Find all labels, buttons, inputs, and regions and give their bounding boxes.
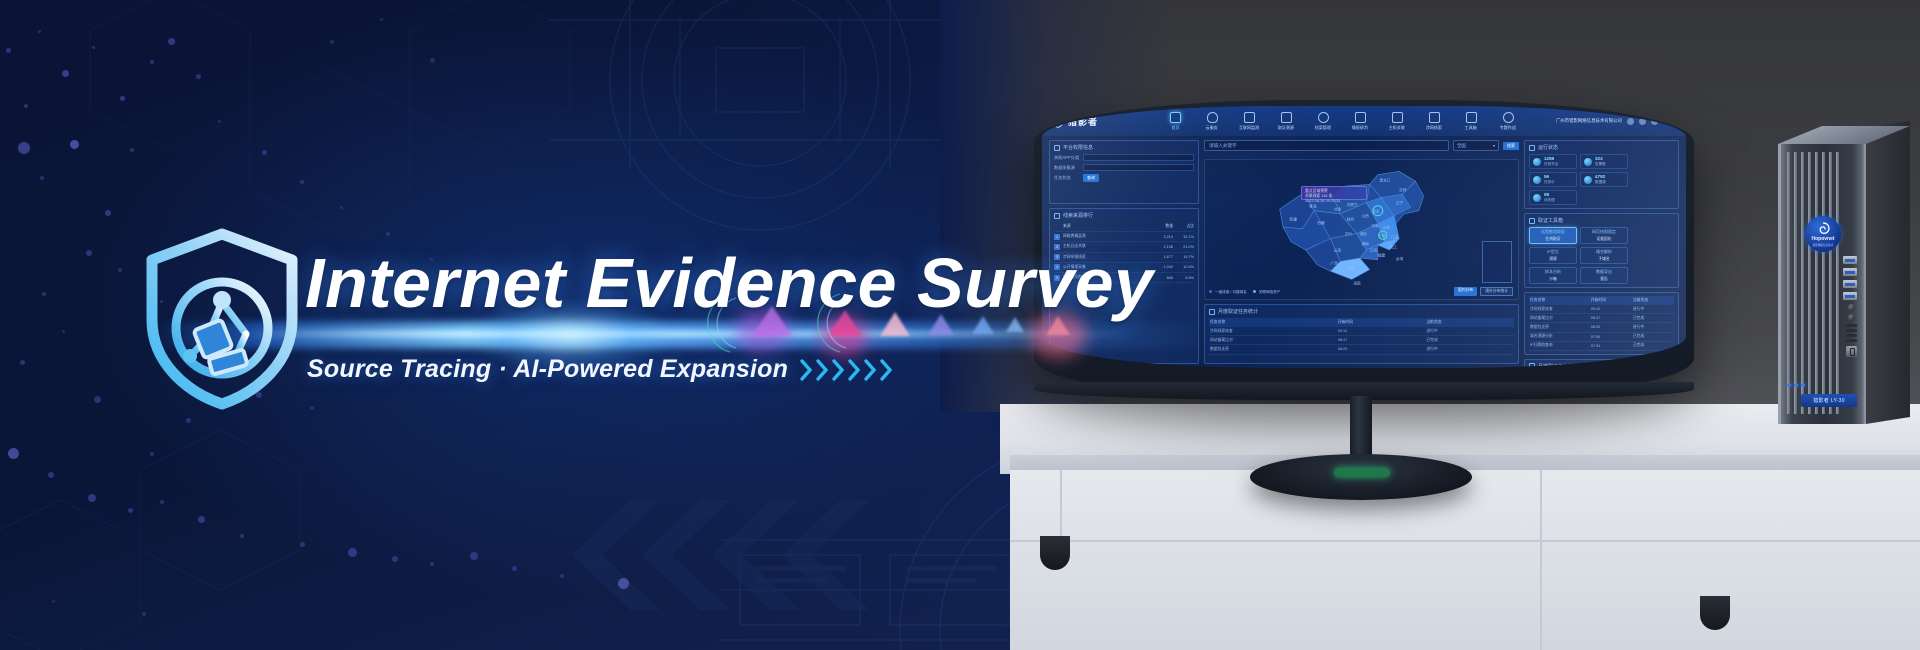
tower-brand-badge: Hopovnet 猎影网络信息技术 [1805,216,1841,252]
badge-brand-name: Hopovnet [1811,236,1834,242]
cell-time: 08:20 [1590,323,1632,332]
tools-grid: 远程勘验取证 在线取证 网页快照固定 证据固化 IP定位 [1529,227,1674,284]
svg-text:辽宁: 辽宁 [1396,200,1404,205]
legend-label-1: 关联网络资产 [1259,290,1281,294]
cell-name: 域名溯源分析 [1529,332,1590,341]
tool-sub: 子域名 [1598,257,1609,262]
vent-fin [1794,152,1797,414]
map-buttons: 国内分布 境外分布统计 [1454,287,1513,296]
list-item-count: 2,108 [1153,245,1173,249]
bar-chart-title: 月度取证任务统计 [1529,363,1674,368]
tools-panel-title: 取证工具箱 [1529,217,1674,224]
kpi-value: 1286 [1544,156,1558,161]
chevron-right-icon [864,359,877,381]
vent-fin [1822,152,1825,414]
table-header-row: 任务名称 开始时间 当前状态 [1209,318,1514,327]
cell-name: IP归属地查询 [1529,341,1590,350]
alert-icon [1584,158,1592,166]
svg-text:陕西: 陕西 [1347,217,1355,222]
permission-panel-title: 平台权限信息 [1054,144,1194,151]
nav-label-7: 涉网线索 [1426,125,1442,131]
tool-title: IP定位 [1547,249,1559,255]
detail-table: 任务名称 开始时间 当前状态 涉网线索核查 09:12 进行中 [1529,296,1674,351]
analysis-icon [1355,112,1366,123]
table-row[interactable]: 涉网线索核查 09:12 进行中 [1209,327,1514,336]
kpi-label: 在线节点 [1544,162,1558,167]
cell-status: 已完成 [1632,341,1674,350]
table-header-row: 任务名称 开始时间 当前状态 [1529,296,1674,305]
drawer-handle-left[interactable] [1040,536,1070,570]
shield-network-logo [140,228,305,410]
task-icon [1533,176,1541,184]
nav-label-4: 档案管理 [1315,125,1331,131]
subtitle-row: Source Tracing · AI-Powered Expansion [307,355,893,384]
status-panel: 运行状态 1286 在线节点 [1524,140,1679,209]
task-table-panel: 月度取证任务统计 任务名称 开始时间 当前状态 涉网线索核查 [1204,304,1519,364]
page-title: Internet Evidence Survey [305,243,1153,323]
header-right: 广州市猎影网络信息技术有限公司 管理员 [1556,118,1676,125]
search-node-icon [1533,158,1541,166]
filter-label-2: 任务状态 [1054,175,1080,181]
stand-energy-badge [1334,468,1390,477]
tool-sub: 溯源 [1549,257,1557,262]
th-1: 开始时间 [1590,296,1632,305]
map-legend: 一级线索 / 可疑域名 关联网络资产 [1209,290,1280,295]
list-item-count: 1,042 [1153,265,1173,269]
tool-card[interactable]: 样本分析 沙箱 [1529,267,1577,284]
power-button[interactable] [1846,346,1857,357]
cell-time: 09:12 [1337,327,1426,336]
cell-time: 07:55 [1590,332,1632,341]
cell-time: 08:20 [1337,345,1426,354]
chevron-right-icon [848,359,861,381]
avatar[interactable] [1627,118,1634,125]
filter-row-2: 任务状态 查询 [1054,174,1194,182]
nav-label-8: 工具箱 [1465,125,1477,131]
query-button[interactable]: 查询 [1083,174,1099,182]
nav-item-1[interactable]: 云服务 [1199,112,1225,131]
bell-icon[interactable] [1639,118,1646,125]
cloud-icon [1207,112,1218,123]
nav-item-0[interactable]: 首页 [1162,112,1188,131]
decorative-chevrons [560,500,900,610]
tower-front-panel: Hopovnet 猎影网络信息技术 猎影者 [1778,144,1866,424]
cell-name: 数据包还原 [1209,345,1337,354]
chevron-right-icon [880,359,893,381]
nav-label-0: 首页 [1171,125,1179,131]
monitor-stand-base [1250,454,1472,500]
cell-status: 已完成 [1632,314,1674,323]
tool-title: 网页快照固定 [1592,229,1616,235]
middle-column: 请输入关键字 全国 ▾ 搜索 [1204,140,1519,364]
mini-map[interactable] [1482,241,1512,283]
legend-entry-0: 一级线索 / 可疑域名 [1209,290,1247,295]
cell-time: 08:47 [1337,336,1426,345]
audio-jack[interactable] [1848,304,1855,311]
task-table-title: 月度取证任务统计 [1209,308,1514,315]
tool-card[interactable]: 远程勘验取证 在线取证 [1529,227,1577,244]
status-panel-title: 运行状态 [1529,144,1674,151]
right-column: 运行状态 1286 在线节点 [1524,140,1679,364]
svg-text:福建: 福建 [1378,252,1386,257]
region-select-value: 全国 [1457,143,1466,149]
cell-name: 网站备案比对 [1209,336,1337,345]
database-icon [1584,176,1592,184]
tool-card[interactable]: 网页快照固定 证据固化 [1580,227,1628,244]
ranking-panel-title: 线索来源排行 [1054,212,1194,219]
pc-tower: Hopovnet 猎影网络信息技术 猎影者 [1778,126,1910,426]
dashboard-header: 猎影者 首页 云服务 [1042,106,1686,136]
table-row[interactable]: 数据包还原 08:20 进行中 [1529,323,1674,332]
nav-item-2[interactable]: 互联网监测 [1236,112,1262,131]
svg-text:黑龙江: 黑龙江 [1379,177,1390,182]
cell-name: 数据包还原 [1529,323,1590,332]
tool-card[interactable]: IP定位 溯源 [1529,247,1577,264]
nav-item-8[interactable]: 工具箱 [1458,112,1484,131]
cell-name: 涉网线索核查 [1209,327,1337,336]
svg-text:湖北: 湖北 [1360,231,1368,236]
ranking-header: 来源 数量 占比 [1054,222,1194,232]
vent-slot [1846,329,1857,332]
map-button-domestic[interactable]: 国内分布 [1454,287,1477,296]
svg-text:广西: 广西 [1330,261,1338,266]
search-icon [1503,112,1514,123]
svg-text:湖南: 湖南 [1362,241,1370,246]
callout-time: 2023-08-28 09:25:33 [1305,199,1363,203]
kpi-card[interactable]: 1286 在线节点 [1529,154,1577,169]
cell-time: 08:47 [1590,314,1632,323]
usb-port[interactable] [1843,280,1857,288]
tower-nameplate: 猎影者 LY-30 [1801,394,1857,407]
legend-label-0: 一级线索 / 可疑域名 [1215,290,1247,294]
pending-icon [1533,194,1541,202]
nav-label-5: 情报研判 [1352,125,1368,131]
brand-name: 猎影者 [1068,115,1098,128]
filter-row-0: 关联APP分类 [1054,154,1194,161]
kpi-label: 待处理 [1544,198,1555,203]
page-subtitle: Source Tracing · AI-Powered Expansion [307,355,788,384]
nav-label-6: 主机关联 [1389,125,1405,131]
map-button-overseas[interactable]: 境外分布统计 [1480,287,1513,296]
cell-status: 进行中 [1632,323,1674,332]
vent-fin [1801,152,1804,414]
toolbox-icon [1466,112,1477,123]
kpi-label: 任务中 [1544,180,1555,185]
desk-seam-vertical-1 [1540,470,1542,650]
clue-icon [1429,112,1440,123]
th-0: 任务名称 [1529,296,1590,305]
kpi-value: 4792 [1595,174,1606,179]
nav-label-9: 专题作战 [1500,125,1516,131]
filter-label-1: 数据采集源 [1054,165,1080,171]
region-select[interactable]: 全国 ▾ [1453,140,1499,151]
tower-side-panel [1866,121,1910,424]
bar-chart-panel: 月度取证任务统计 30,00025,000 2 [1524,359,1679,368]
table-row[interactable]: 网站备案比对 08:47 已完成 [1209,336,1514,345]
list-item-pct: 21.0% [1176,245,1194,249]
hero-banner: 猎影者 首页 云服务 [0,0,1920,650]
th-0: 任务名称 [1209,318,1337,327]
vent-slot [1846,334,1857,337]
desk-seam-vertical-2 [1060,470,1062,540]
spiral-logo-icon [1817,222,1830,235]
gear-icon[interactable] [1651,118,1658,125]
svg-text:云南: 云南 [1334,248,1342,253]
svg-text:青海: 青海 [1309,203,1317,208]
tools-panel: 取证工具箱 远程勘验取证 在线取证 网页快照固定 证据固化 [1524,213,1679,288]
chevron-right-icon [800,359,813,381]
list-item-pct: 8.6% [1176,276,1194,280]
permission-panel: 平台权限信息 关联APP分类 数据采集源 任务 [1049,140,1199,204]
kpi-card[interactable]: 324 告警数 [1580,154,1628,169]
kpi-card[interactable]: 98 待处理 [1529,190,1577,205]
kpi-value: 324 [1595,156,1606,161]
usb-port[interactable] [1843,292,1857,300]
task-table: 任务名称 开始时间 当前状态 涉网线索核查 09:12 进行中 [1209,318,1514,355]
table-row[interactable]: 网站备案比对 08:47 已完成 [1529,314,1674,323]
cell-time: 09:12 [1590,305,1632,314]
list-item-count: 3,214 [1153,235,1173,239]
tool-card[interactable]: 数据导出 报告 [1580,267,1628,284]
tool-card[interactable]: 域名解析 子域名 [1580,247,1628,264]
chevron-right-icon [816,359,829,381]
cell-status: 已完成 [1425,336,1514,345]
tool-title: 数据导出 [1596,269,1612,275]
monitor-icon [1244,112,1255,123]
kpi-value: 56 [1544,174,1555,179]
cell-status: 进行中 [1632,305,1674,314]
company-name: 广州市猎影网络信息技术有限公司 [1556,118,1622,124]
list-item-count: 1,677 [1153,255,1173,259]
nav-label-1: 云服务 [1206,125,1218,131]
home-icon [1170,112,1181,123]
vent-slot [1846,324,1857,327]
led-indicators [1787,384,1805,386]
svg-text:广东: 广东 [1347,266,1355,271]
desk-front-panel [1010,470,1920,650]
svg-text:甘肃: 甘肃 [1334,207,1342,212]
rank-badge: 1 [1054,234,1060,240]
ranking-col-name: 来源 [1063,224,1150,229]
nav-item-9[interactable]: 专题作战 [1495,112,1521,131]
cell-name: 涉网线索核查 [1529,305,1590,314]
svg-text:山东: 山东 [1383,225,1391,230]
usb-port[interactable] [1843,256,1857,264]
kpi-card[interactable]: 56 任务中 [1529,172,1577,187]
cell-time: 07:31 [1590,341,1632,350]
filter-row-1: 数据采集源 [1054,164,1194,171]
list-item-pct: 32.1% [1176,235,1194,239]
filter-input-0[interactable] [1083,154,1194,161]
legend-entry-1: 关联网络资产 [1253,290,1281,295]
svg-text:江苏: 江苏 [1391,234,1399,239]
table-row[interactable]: 数据包还原 08:20 进行中 [1209,345,1514,354]
cell-status: 进行中 [1425,345,1514,354]
kpi-grid: 1286 在线节点 324 告警数 [1529,154,1674,205]
svg-text:台湾: 台湾 [1396,256,1404,261]
vent-slot [1846,339,1857,342]
nav-item-3[interactable]: 取证溯源 [1273,112,1299,131]
vent-fin [1808,152,1811,414]
svg-text:河南: 河南 [1371,223,1379,228]
table-row[interactable]: IP归属地查询 07:31 已完成 [1529,341,1674,350]
china-map-svg: 新疆西藏 内蒙古黑龙江 吉林辽宁 河北山东 江苏浙江 福建广东 广西云南 四川湖… [1205,160,1518,299]
cell-status: 进行中 [1425,327,1514,336]
th-2: 当前状态 [1632,296,1674,305]
tool-sub: 证据固化 [1596,237,1611,242]
nav-label-2: 互联网监测 [1239,125,1259,131]
ranking-col-b: 占比 [1176,224,1194,229]
search-input[interactable]: 请输入关键字 [1204,140,1449,151]
svg-text:山西: 山西 [1362,213,1370,218]
filter-label-0: 关联APP分类 [1054,155,1080,161]
svg-text:西藏: 西藏 [1317,220,1325,225]
dashboard-nav: 首页 云服务 互联网监测 [1162,112,1556,131]
drawer-handle-right[interactable] [1700,596,1730,630]
archive-icon [1318,112,1329,123]
svg-text:江西: 江西 [1370,248,1378,253]
vent-fin [1829,152,1832,414]
vent-fin [1815,152,1818,414]
tool-title: 域名解析 [1596,249,1612,255]
list-item-pct: 10.4% [1176,265,1194,269]
chevron-right-icon [832,359,845,381]
kpi-card[interactable]: 4792 数据源 [1580,172,1628,187]
svg-text:吉林: 吉林 [1399,187,1407,192]
nav-label-3: 取证溯源 [1278,125,1294,131]
table-row[interactable]: 域名溯源分析 07:55 已完成 [1529,332,1674,341]
vent-fin [1787,152,1790,414]
kpi-value: 98 [1544,192,1555,197]
map-callout: 重点区域预警 关联线索 132 条 2023-08-28 09:25:33 [1301,186,1367,200]
list-item[interactable]: 1 网络舆情监测 3,214 32.1% [1054,232,1194,242]
tool-title: 远程勘验取证 [1541,229,1565,235]
svg-text:新疆: 新疆 [1290,217,1298,222]
ranking-col-a: 数量 [1153,224,1173,229]
led-network [1801,384,1805,386]
host-icon [1392,112,1403,123]
brand-logo: 猎影者 [1052,115,1162,128]
user-name[interactable]: 管理员 [1663,118,1676,124]
svg-text:四川: 四川 [1345,232,1353,236]
nav-item-6[interactable]: 主机关联 [1384,112,1410,131]
cell-name: 网站备案比对 [1529,314,1590,323]
nav-item-7[interactable]: 涉网线索 [1421,112,1447,131]
usb-port[interactable] [1843,268,1857,276]
search-bar: 请输入关键字 全国 ▾ 搜索 [1204,140,1519,151]
mic-jack[interactable] [1848,314,1855,321]
tool-title: 样本分析 [1545,269,1561,275]
th-2: 当前状态 [1425,318,1514,327]
filter-input-1[interactable] [1083,164,1194,171]
led-activity [1794,384,1798,386]
tool-sub: 在线取证 [1545,237,1560,242]
chevron-down-icon: ▾ [1493,143,1495,148]
svg-text:海南: 海南 [1353,280,1361,285]
cell-status: 已完成 [1632,332,1674,341]
chevron-run [800,359,893,381]
table-row[interactable]: 涉网线索核查 09:12 进行中 [1529,305,1674,314]
front-io-ports [1843,256,1859,357]
detail-table-panel: 任务名称 开始时间 当前状态 涉网线索核查 09:12 进行中 [1524,292,1679,355]
china-map-panel[interactable]: 新疆西藏 内蒙古黑龙江 吉林辽宁 河北山东 江苏浙江 福建广东 广西云南 四川湖… [1204,159,1519,300]
th-1: 开始时间 [1337,318,1426,327]
tool-sub: 报告 [1600,277,1608,282]
nav-item-5[interactable]: 情报研判 [1347,112,1373,131]
kpi-label: 告警数 [1595,162,1606,167]
vent-fin [1836,152,1839,414]
kpi-label: 数据源 [1595,180,1606,185]
tool-sub: 沙箱 [1549,277,1557,282]
list-item-pct: 16.7% [1176,255,1194,259]
shield-brand-icon [1052,115,1064,128]
evidence-icon [1281,112,1292,123]
led-power [1787,384,1791,386]
badge-brand-sub: 猎影网络信息技术 [1813,243,1834,247]
desk-seam-horizontal [1010,540,1920,542]
svg-text:浙江: 浙江 [1389,244,1397,249]
list-item-name: 网络舆情监测 [1063,234,1150,239]
search-button[interactable]: 搜索 [1503,142,1519,150]
nav-item-4[interactable]: 档案管理 [1310,112,1336,131]
list-item-count: 865 [1153,276,1173,280]
